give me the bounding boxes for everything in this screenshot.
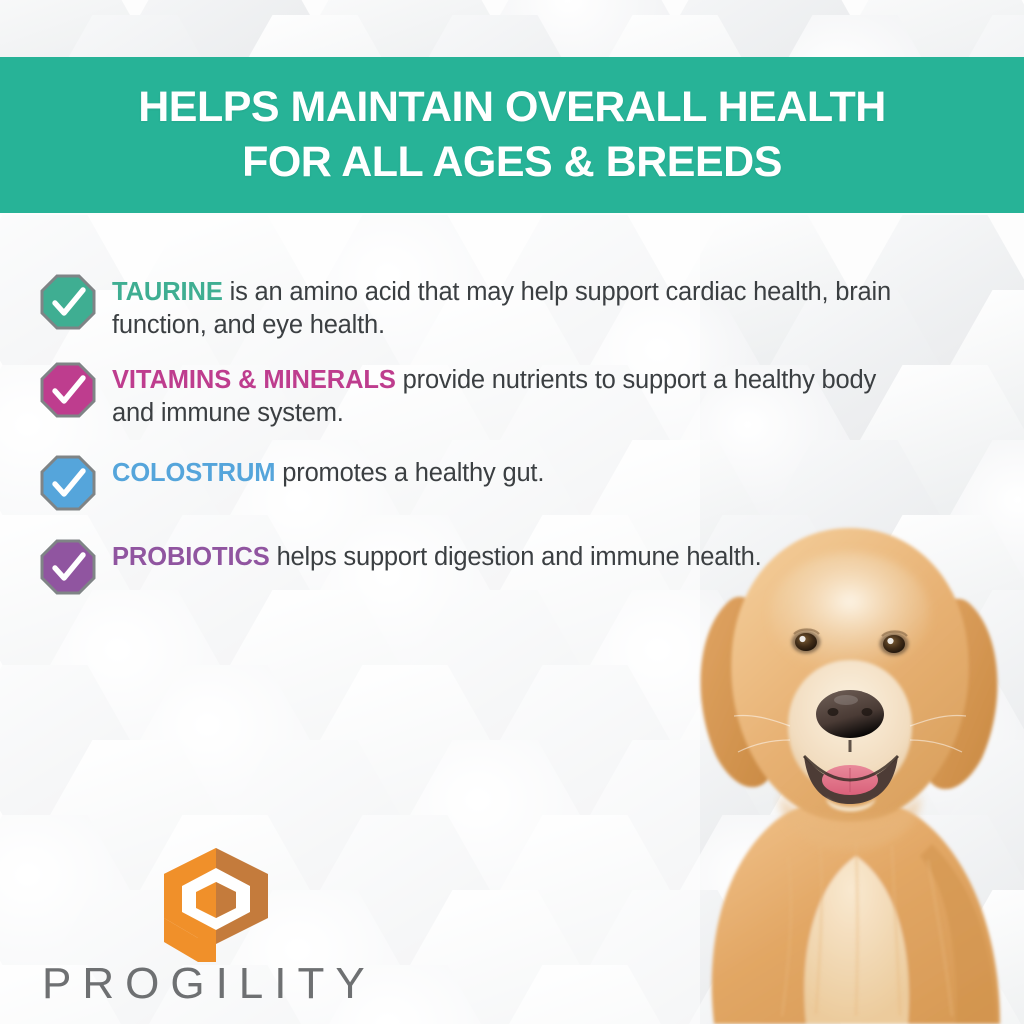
check-octagon-icon <box>40 539 96 595</box>
check-octagon-icon <box>40 362 96 418</box>
benefit-body: is an amino acid that may help support c… <box>112 278 891 339</box>
header-title-line-1: HELPS MAINTAIN OVERALL HEALTH <box>138 80 886 135</box>
benefit-body: helps support digestion and immune healt… <box>270 543 762 571</box>
benefit-text: COLOSTRUM promotes a healthy gut. <box>112 453 544 490</box>
benefit-item-probiotics: PROBIOTICS helps support digestion and i… <box>40 537 920 595</box>
benefit-item-vitamins-minerals: VITAMINS & MINERALS provide nutrients to… <box>40 360 920 430</box>
benefits-list: TAURINE is an amino acid that may help s… <box>40 272 920 595</box>
check-octagon-icon <box>40 455 96 511</box>
header-banner: HELPS MAINTAIN OVERALL HEALTH FOR ALL AG… <box>0 57 1024 213</box>
benefit-keyword: TAURINE <box>112 278 223 306</box>
benefit-keyword: VITAMINS & MINERALS <box>112 366 396 394</box>
header-title-line-2: FOR ALL AGES & BREEDS <box>242 135 782 190</box>
progility-hexagon-p-logo-icon <box>158 846 274 964</box>
benefit-keyword: COLOSTRUM <box>112 459 275 487</box>
benefit-text: VITAMINS & MINERALS provide nutrients to… <box>112 360 912 430</box>
benefit-item-taurine: TAURINE is an amino acid that may help s… <box>40 272 920 342</box>
brand-logo: PROGILITY <box>40 846 376 1006</box>
benefit-text: PROBIOTICS helps support digestion and i… <box>112 537 762 574</box>
benefit-text: TAURINE is an amino acid that may help s… <box>112 272 912 342</box>
benefit-body: promotes a healthy gut. <box>275 459 544 487</box>
poster-canvas: HELPS MAINTAIN OVERALL HEALTH FOR ALL AG… <box>0 0 1024 1024</box>
benefit-keyword: PROBIOTICS <box>112 543 270 571</box>
benefit-item-colostrum: COLOSTRUM promotes a healthy gut. <box>40 453 920 511</box>
brand-wordmark: PROGILITY <box>42 962 376 1006</box>
check-octagon-icon <box>40 274 96 330</box>
